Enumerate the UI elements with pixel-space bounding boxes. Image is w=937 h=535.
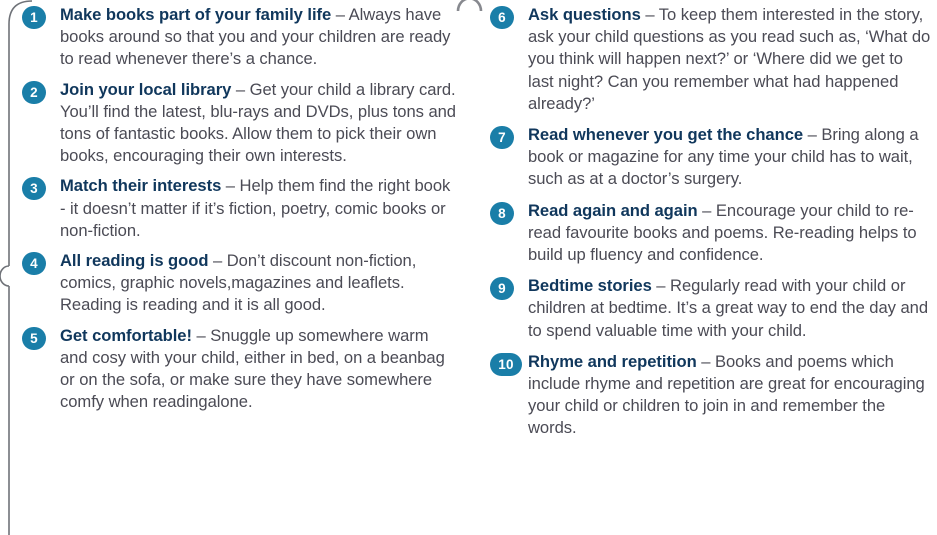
tip-title-4: All reading is good xyxy=(60,251,208,270)
tip-title-1: Make books part of your family life xyxy=(60,5,331,24)
tip-text-9: Bedtime stories – Regularly read with yo… xyxy=(528,275,931,342)
tip-title-9: Bedtime stories xyxy=(528,276,652,295)
tip-item-8: 8 Read again and again – Encourage your … xyxy=(490,200,931,267)
tip-text-10: Rhyme and repetition – Books and poems w… xyxy=(528,351,931,440)
tips-column-right: 6 Ask questions – To keep them intereste… xyxy=(470,0,937,535)
tip-number-badge-4: 4 xyxy=(22,252,46,275)
tip-text-7: Read whenever you get the chance – Bring… xyxy=(528,124,931,191)
tip-item-4: 4 All reading is good – Don’t discount n… xyxy=(22,250,456,317)
tip-title-10: Rhyme and repetition xyxy=(528,352,697,371)
tips-columns: 1 Make books part of your family life – … xyxy=(0,0,937,535)
tip-title-5: Get comfortable! xyxy=(60,326,192,345)
tip-number-badge-7: 7 xyxy=(490,126,514,149)
tip-text-6: Ask questions – To keep them interested … xyxy=(528,4,931,115)
tip-number-badge-10: 10 xyxy=(490,353,522,376)
tip-item-10: 10 Rhyme and repetition – Books and poem… xyxy=(490,351,931,440)
tip-number-badge-5: 5 xyxy=(22,327,46,350)
tip-title-2: Join your local library xyxy=(60,80,231,99)
tip-number-badge-2: 2 xyxy=(22,81,46,104)
tip-item-6: 6 Ask questions – To keep them intereste… xyxy=(490,4,931,115)
tip-item-5: 5 Get comfortable! – Snuggle up somewher… xyxy=(22,325,456,414)
tip-title-3: Match their interests xyxy=(60,176,221,195)
tip-item-9: 9 Bedtime stories – Regularly read with … xyxy=(490,275,931,342)
tip-title-7: Read whenever you get the chance xyxy=(528,125,803,144)
tip-item-2: 2 Join your local library – Get your chi… xyxy=(22,79,456,168)
tip-text-1: Make books part of your family life – Al… xyxy=(60,4,456,71)
tip-number-badge-9: 9 xyxy=(490,277,514,300)
tip-item-1: 1 Make books part of your family life – … xyxy=(22,4,456,71)
tip-number-badge-8: 8 xyxy=(490,202,514,225)
tip-text-4: All reading is good – Don’t discount non… xyxy=(60,250,456,317)
tip-title-8: Read again and again xyxy=(528,201,698,220)
tip-number-badge-6: 6 xyxy=(490,6,514,29)
tip-text-8: Read again and again – Encourage your ch… xyxy=(528,200,931,267)
tip-text-2: Join your local library – Get your child… xyxy=(60,79,456,168)
tip-title-6: Ask questions xyxy=(528,5,641,24)
tip-number-badge-3: 3 xyxy=(22,177,46,200)
tip-text-5: Get comfortable! – Snuggle up somewhere … xyxy=(60,325,456,414)
tip-number-badge-1: 1 xyxy=(22,6,46,29)
tip-text-3: Match their interests – Help them find t… xyxy=(60,175,456,242)
tip-item-3: 3 Match their interests – Help them find… xyxy=(22,175,456,242)
tips-column-left: 1 Make books part of your family life – … xyxy=(0,0,470,535)
tip-item-7: 7 Read whenever you get the chance – Bri… xyxy=(490,124,931,191)
